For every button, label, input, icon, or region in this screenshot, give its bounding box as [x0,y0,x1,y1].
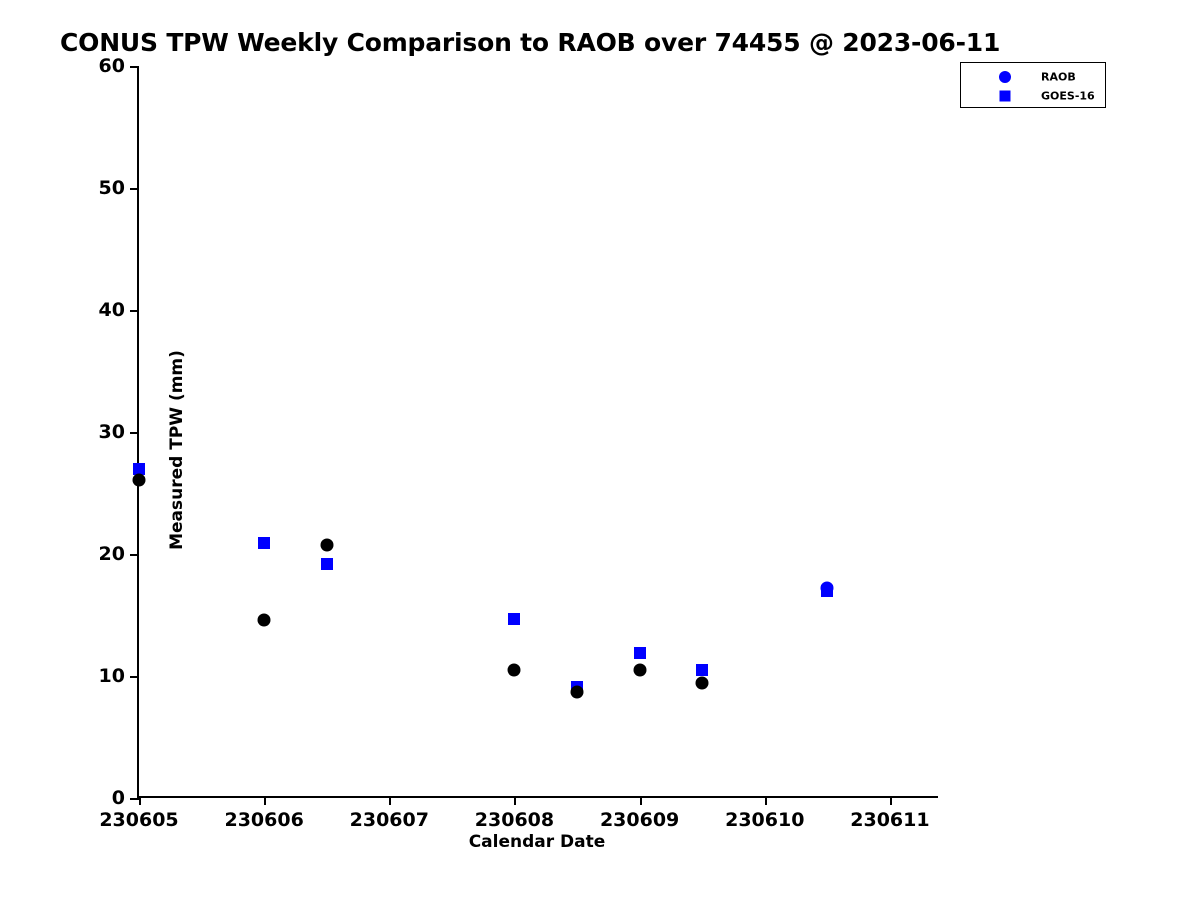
x-tick-mark [890,796,892,805]
y-tick-label: 30 [99,421,125,443]
chart-legend: RAOBGOES-16 [960,62,1106,108]
y-tick-label: 10 [99,665,125,687]
data-point-raob [508,663,521,676]
data-point-goes-16 [508,613,520,625]
x-tick-label: 230606 [224,809,303,831]
y-tick-label: 50 [99,177,125,199]
data-point-raob [320,539,333,552]
x-tick-label: 230611 [850,809,929,831]
x-tick-mark [640,796,642,805]
x-axis-title: Calendar Date [469,832,606,852]
y-tick-mark [130,432,139,434]
legend-label: RAOB [1041,71,1076,84]
data-point-goes-16 [258,537,270,549]
data-point-goes-16 [634,647,646,659]
y-tick-label: 20 [99,543,125,565]
data-point-goes-16 [696,664,708,676]
data-point-raob [696,677,709,690]
x-tick-mark [514,796,516,805]
legend-circle-icon [999,71,1011,83]
x-tick-label: 230609 [600,809,679,831]
y-tick-mark [130,310,139,312]
legend-square-icon [1000,91,1011,102]
x-tick-mark [139,796,141,805]
x-tick-label: 230607 [350,809,429,831]
chart-title: CONUS TPW Weekly Comparison to RAOB over… [60,28,1000,57]
y-tick-label: 40 [99,299,125,321]
data-point-raob [821,582,834,595]
plot-area: 0102030405060 23060523060623060723060823… [137,66,938,798]
y-tick-mark [130,66,139,68]
x-tick-label: 230610 [725,809,804,831]
x-tick-label: 230608 [475,809,554,831]
y-tick-label: 0 [112,787,125,809]
legend-item-raob[interactable]: RAOB [961,67,1105,87]
x-tick-mark [389,796,391,805]
legend-item-goes-16[interactable]: GOES-16 [961,86,1105,106]
data-point-raob [133,473,146,486]
y-tick-mark [130,554,139,556]
y-tick-mark [130,188,139,190]
x-tick-mark [264,796,266,805]
data-point-raob [258,613,271,626]
data-point-raob [633,663,646,676]
x-tick-label: 230605 [99,809,178,831]
x-tick-mark [765,796,767,805]
y-tick-mark [130,798,139,800]
y-tick-mark [130,676,139,678]
chart-figure: CONUS TPW Weekly Comparison to RAOB over… [0,0,1200,900]
legend-label: GOES-16 [1041,90,1095,103]
y-tick-label: 60 [99,55,125,77]
data-point-raob [571,685,584,698]
data-point-goes-16 [321,558,333,570]
